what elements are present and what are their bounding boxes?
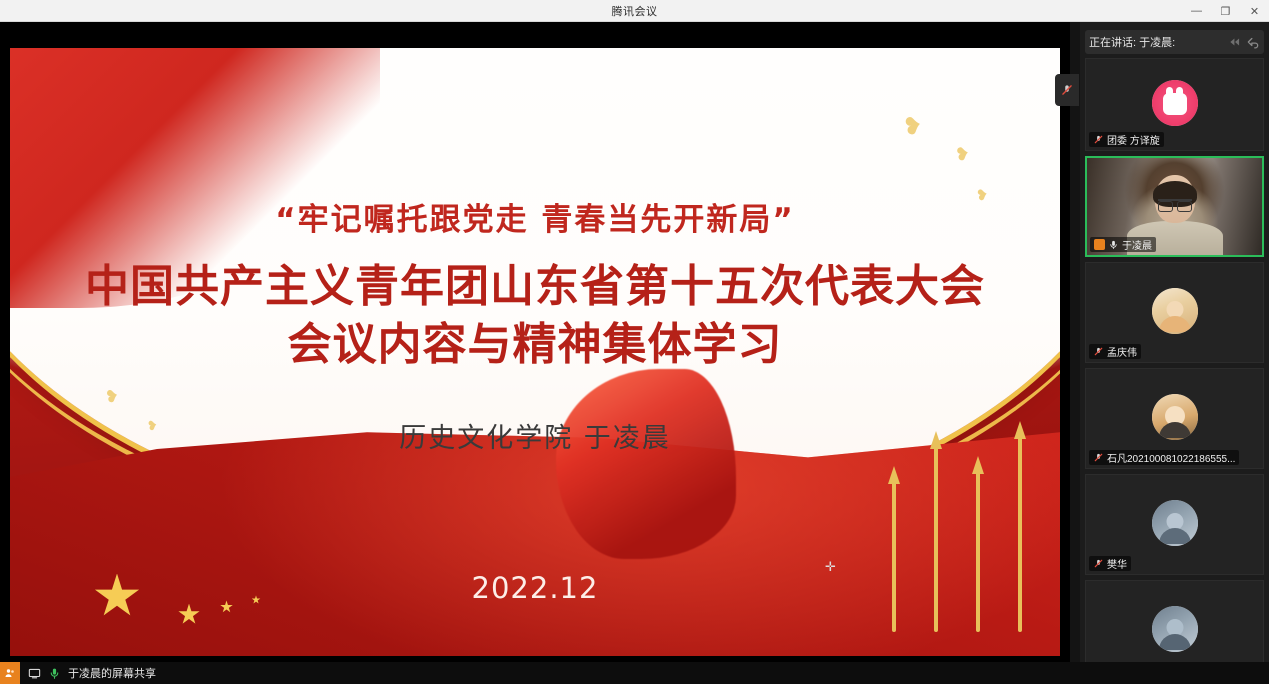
photo-avatar	[1152, 394, 1198, 440]
participant-tile-active-speaker[interactable]: 于凌晨	[1085, 156, 1264, 257]
mic-icon	[1108, 239, 1119, 250]
avatar-shoulder	[1159, 634, 1191, 650]
person-avatar	[1152, 606, 1198, 652]
share-status-text: 于凌晨的屏幕共享	[68, 665, 156, 681]
rabbit-avatar	[1152, 80, 1198, 126]
presentation-slide: ❥ ❥ ❥ ❥ ❥ “牢记嘱托跟党走 青春当先开新局” 中国共产主义青年团山东省…	[10, 48, 1060, 656]
participant-name-bar: 团委 方译旋	[1089, 132, 1164, 147]
avatar-shoulder	[1159, 422, 1191, 438]
participant-name: 孟庆伟	[1107, 344, 1137, 359]
mic-muted-glyph	[1060, 83, 1074, 97]
minimize-button[interactable]: —	[1182, 0, 1211, 22]
participant-tile[interactable]: 石凡202100081022186555...	[1085, 368, 1264, 469]
participant-tile[interactable]: 孟庆伟	[1085, 262, 1264, 363]
app-title: 腾讯会议	[612, 3, 658, 19]
participant-name: 于凌晨	[1122, 237, 1152, 252]
slide-date: 2022.12	[10, 571, 1060, 605]
slide-headline: 中国共产主义青年团山东省第十五次代表大会 会议内容与精神集体学习	[10, 258, 1060, 374]
mic-muted-icon	[1093, 558, 1104, 569]
host-badge-icon	[1094, 239, 1105, 250]
mic-icon[interactable]	[48, 667, 61, 680]
status-bar-icons: 于凌晨的屏幕共享	[20, 665, 164, 681]
avatar-shoulder	[1159, 528, 1191, 544]
meeting-stage: ❥ ❥ ❥ ❥ ❥ “牢记嘱托跟党走 青春当先开新局” 中国共产主义青年团山东省…	[0, 22, 1269, 684]
glasses-icon	[1158, 199, 1192, 208]
avatar	[1152, 394, 1198, 440]
mic-muted-icon	[1093, 134, 1104, 145]
mic-muted-icon	[1093, 452, 1104, 463]
photo-avatar	[1152, 500, 1198, 546]
slide-headline-line-2: 会议内容与精神集体学习	[10, 316, 1060, 374]
window-title-bar: 腾讯会议 — ❐ ✕	[0, 0, 1269, 22]
participant-tile[interactable]: 团委 方译旋	[1085, 58, 1264, 151]
collapse-panel-icon[interactable]	[1228, 35, 1242, 49]
participant-name: 团委 方译旋	[1107, 132, 1160, 147]
active-speaker-bar: 正在讲话: 于凌晨:	[1085, 30, 1264, 54]
maximize-button[interactable]: ❐	[1211, 0, 1240, 22]
participant-name-bar: 于凌晨	[1090, 237, 1156, 252]
avatar	[1152, 606, 1198, 652]
avatar-shoulder	[1159, 316, 1191, 332]
participant-name-bar: 孟庆伟	[1089, 344, 1141, 359]
participants-icon[interactable]	[0, 662, 20, 684]
rabbit-body	[1163, 93, 1187, 115]
slide-text-layer: “牢记嘱托跟党走 青春当先开新局” 中国共产主义青年团山东省第十五次代表大会 会…	[10, 48, 1060, 656]
mouse-cursor: ✛	[825, 561, 836, 572]
participant-tile[interactable]: 樊华	[1085, 474, 1264, 575]
window-controls: — ❐ ✕	[1182, 0, 1269, 22]
mic-muted-icon[interactable]	[1055, 74, 1079, 106]
screen-share-icon[interactable]	[28, 667, 41, 680]
participant-name: 石凡202100081022186555...	[1107, 450, 1235, 465]
participant-rail[interactable]: 正在讲话: 于凌晨:	[1080, 22, 1269, 662]
participant-name-bar: 石凡202100081022186555...	[1089, 450, 1239, 465]
active-speaker-label: 正在讲话: 于凌晨:	[1089, 34, 1175, 50]
slide-headline-line-1: 中国共产主义青年团山东省第十五次代表大会	[10, 258, 1060, 316]
participants-glyph	[4, 667, 16, 679]
participant-name-bar: 樊华	[1089, 556, 1131, 571]
avatar	[1152, 80, 1198, 126]
return-arrow-icon[interactable]	[1246, 35, 1260, 49]
slide-presenter: 历史文化学院 于凌晨	[10, 416, 1060, 455]
avatar	[1152, 288, 1198, 334]
avatar	[1152, 500, 1198, 546]
mic-muted-icon	[1093, 346, 1104, 357]
shared-screen-viewport[interactable]: ❥ ❥ ❥ ❥ ❥ “牢记嘱托跟党走 青春当先开新局” 中国共产主义青年团山东省…	[0, 22, 1070, 662]
participant-name: 樊华	[1107, 556, 1127, 571]
slide-quote: “牢记嘱托跟党走 青春当先开新局”	[10, 194, 1060, 239]
cartoon-avatar	[1152, 288, 1198, 334]
status-bar: 于凌晨的屏幕共享	[0, 662, 1269, 684]
close-button[interactable]: ✕	[1240, 0, 1269, 22]
rail-actions	[1228, 35, 1260, 49]
